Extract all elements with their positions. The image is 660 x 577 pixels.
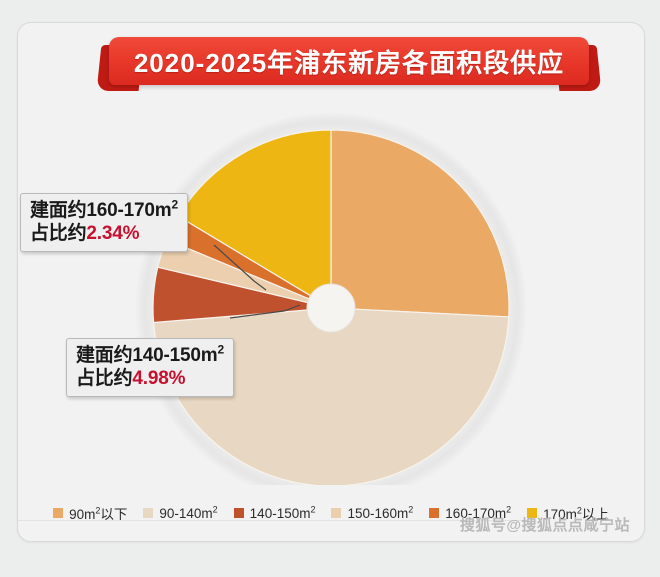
- pie-chart-svg: [18, 85, 644, 485]
- chart-card: 2020-2025年浦东新房各面积段供应: [17, 22, 645, 542]
- callout-140-150-sup: 2: [217, 343, 223, 357]
- legend-item[interactable]: 150-160m2: [331, 506, 413, 521]
- legend-swatch-icon: [53, 508, 63, 518]
- callout-160-170-percent: 2.34%: [86, 223, 139, 244]
- callout-160-170-line2: 占比约2.34%: [30, 222, 178, 245]
- legend-label: 140-150m2: [250, 506, 316, 521]
- legend-item[interactable]: 140-150m2: [234, 506, 316, 521]
- callout-140-150-prefix: 占比约: [76, 368, 132, 389]
- legend-swatch-icon: [234, 508, 244, 518]
- legend-swatch-icon: [143, 508, 153, 518]
- callout-160-170-text: 建面约160-170m: [30, 200, 171, 221]
- callout-160-170-prefix: 占比约: [30, 223, 86, 244]
- callout-140-150-percent: 4.98%: [132, 368, 185, 389]
- legend-swatch-icon: [429, 508, 439, 518]
- pie-chart: 建面约160-170m2 占比约2.34% 建面约140-150m2 占比约4.…: [18, 85, 644, 485]
- legend-item[interactable]: 90-140m2: [143, 506, 217, 521]
- legend-swatch-icon: [331, 508, 341, 518]
- callout-140-150: 建面约140-150m2 占比约4.98%: [66, 338, 234, 397]
- donut-hole: [307, 284, 355, 332]
- title-banner: 2020-2025年浦东新房各面积段供应: [95, 37, 603, 91]
- page-title: 2020-2025年浦东新房各面积段供应: [134, 43, 564, 80]
- callout-140-150-line2: 占比约4.98%: [76, 367, 224, 390]
- watermark-rule: [18, 520, 526, 521]
- legend-label: 150-160m2: [347, 506, 413, 521]
- watermark: 搜狐号@搜狐点点咸宁站: [460, 514, 630, 535]
- legend-label: 90-140m2: [159, 506, 217, 521]
- callout-160-170-sup: 2: [171, 198, 177, 212]
- callout-160-170: 建面约160-170m2 占比约2.34%: [20, 193, 188, 252]
- callout-140-150-text: 建面约140-150m: [76, 345, 217, 366]
- pie-slice[interactable]: [331, 130, 509, 317]
- callout-140-150-line1: 建面约140-150m2: [76, 344, 224, 367]
- callout-160-170-line1: 建面约160-170m2: [30, 199, 178, 222]
- banner-body: 2020-2025年浦东新房各面积段供应: [109, 37, 589, 85]
